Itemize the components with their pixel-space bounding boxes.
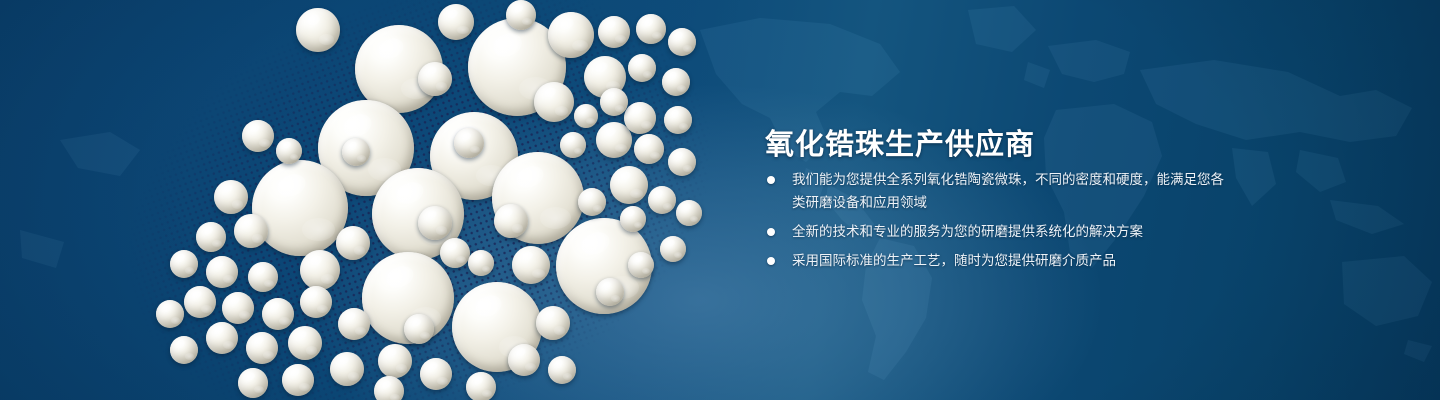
zirconia-beads-image [0, 0, 760, 400]
list-item-label: 采用国际标准的生产工艺，随时为您提供研磨介质产品 [792, 253, 1116, 268]
page-title: 氧化锆珠生产供应商 [765, 129, 1035, 162]
bullet-dot-icon [767, 257, 775, 265]
bullet-dot-icon [767, 176, 775, 184]
list-item: 采用国际标准的生产工艺，随时为您提供研磨介质产品 [765, 249, 1235, 272]
banner-text-block: 氧化锆珠生产供应商 我们能为您提供全系列氧化锆陶瓷微珠，不同的密度和硬度，能满足… [765, 0, 1385, 400]
bullet-dot-icon [767, 228, 775, 236]
list-item: 我们能为您提供全系列氧化锆陶瓷微珠，不同的密度和硬度，能满足您各类研磨设备和应用… [765, 168, 1235, 214]
list-item: 全新的技术和专业的服务为您的研磨提供系统化的解决方案 [765, 220, 1235, 243]
list-item-label: 全新的技术和专业的服务为您的研磨提供系统化的解决方案 [792, 224, 1143, 239]
feature-list: 我们能为您提供全系列氧化锆陶瓷微珠，不同的密度和硬度，能满足您各类研磨设备和应用… [765, 168, 1235, 278]
hero-banner: 氧化锆珠生产供应商 我们能为您提供全系列氧化锆陶瓷微珠，不同的密度和硬度，能满足… [0, 0, 1440, 400]
list-item-label: 我们能为您提供全系列氧化锆陶瓷微珠，不同的密度和硬度，能满足您各类研磨设备和应用… [792, 172, 1224, 210]
